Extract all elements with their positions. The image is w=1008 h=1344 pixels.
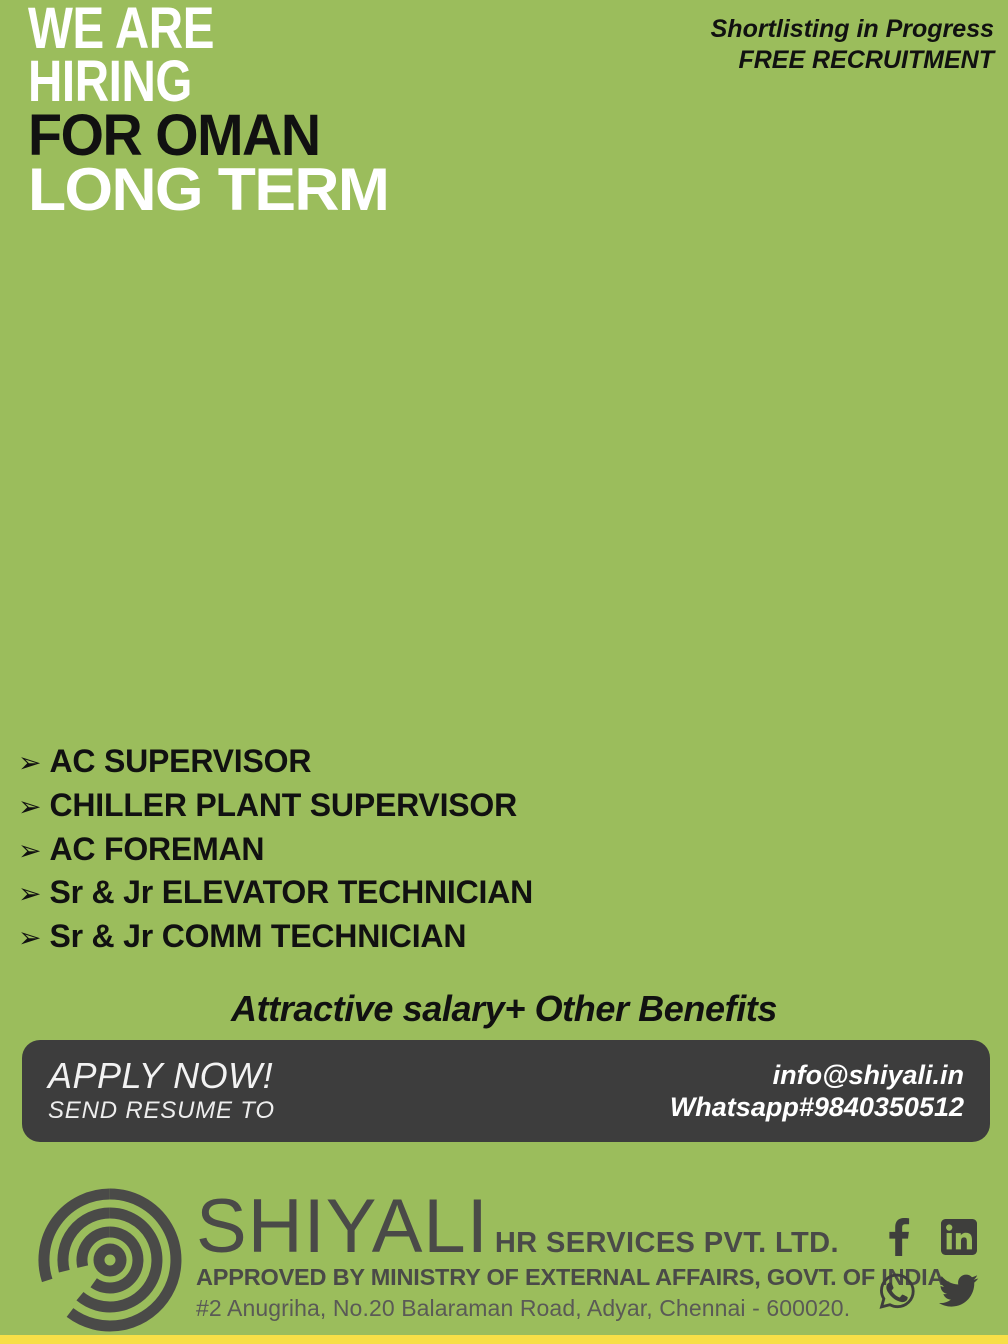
arrow-bullet-icon: ➢	[18, 749, 41, 777]
job-list: ➢ AC SUPERVISOR ➢ CHILLER PLANT SUPERVIS…	[18, 744, 918, 963]
company-suffix: HR SERVICES PVT. LTD.	[495, 1229, 839, 1258]
contact-email[interactable]: info@shiyali.in	[773, 1059, 964, 1091]
send-resume-label: SEND RESUME TO	[48, 1097, 275, 1126]
arrow-bullet-icon: ➢	[18, 924, 41, 952]
job-title: Sr & Jr ELEVATOR TECHNICIAN	[49, 875, 533, 911]
job-title: Sr & Jr COMM TECHNICIAN	[49, 919, 466, 955]
headline-line-for-oman: FOR OMAN	[28, 109, 623, 162]
list-item: ➢ AC FOREMAN	[18, 832, 918, 868]
headline-line-hiring: HIRING	[28, 55, 536, 108]
salary-benefits-note: Attractive salary+ Other Benefits	[0, 988, 1008, 1030]
apply-now-bar: APPLY NOW! SEND RESUME TO info@shiyali.i…	[22, 1040, 990, 1142]
company-approval: APPROVED BY MINISTRY OF EXTERNAL AFFAIRS…	[196, 1264, 876, 1291]
list-item: ➢ Sr & Jr COMM TECHNICIAN	[18, 919, 918, 955]
note-shortlisting: Shortlisting in Progress	[711, 14, 994, 45]
bottom-accent-strip	[0, 1335, 1008, 1344]
brand-row: SHIYALI HR SERVICES PVT. LTD.	[196, 1192, 876, 1262]
headline-line-we-are: WE ARE	[28, 2, 536, 55]
footer: SHIYALI HR SERVICES PVT. LTD. APPROVED B…	[0, 1178, 1008, 1344]
arrow-bullet-icon: ➢	[18, 880, 41, 908]
job-title: AC SUPERVISOR	[49, 744, 311, 780]
arrow-bullet-icon: ➢	[18, 837, 41, 865]
whatsapp-icon[interactable]	[874, 1268, 920, 1314]
arrow-bullet-icon: ➢	[18, 793, 41, 821]
headline-line-long-term: LONG TERM	[28, 162, 673, 217]
company-name: SHIYALI	[196, 1192, 489, 1262]
list-item: ➢ AC SUPERVISOR	[18, 744, 918, 780]
facebook-icon[interactable]	[874, 1214, 920, 1260]
apply-now-label: APPLY NOW!	[48, 1056, 275, 1096]
job-title: CHILLER PLANT SUPERVISOR	[49, 788, 517, 824]
top-right-notes: Shortlisting in Progress FREE RECRUITMEN…	[711, 14, 994, 75]
apply-instructions: APPLY NOW! SEND RESUME TO	[48, 1056, 275, 1125]
company-info: SHIYALI HR SERVICES PVT. LTD. APPROVED B…	[196, 1192, 876, 1322]
headline-block: WE ARE HIRING FOR OMAN LONG TERM	[28, 2, 648, 217]
social-links	[874, 1214, 990, 1314]
contact-details: info@shiyali.in Whatsapp#9840350512	[670, 1059, 964, 1124]
shiyali-logo-icon	[34, 1184, 186, 1336]
list-item: ➢ CHILLER PLANT SUPERVISOR	[18, 788, 918, 824]
company-address: #2 Anugriha, No.20 Balaraman Road, Adyar…	[196, 1295, 876, 1322]
linkedin-icon[interactable]	[936, 1214, 982, 1260]
recruitment-poster: WE ARE HIRING FOR OMAN LONG TERM Shortli…	[0, 0, 1008, 1344]
note-free-recruitment: FREE RECRUITMENT	[711, 45, 994, 76]
job-title: AC FOREMAN	[49, 832, 264, 868]
contact-whatsapp[interactable]: Whatsapp#9840350512	[670, 1091, 964, 1123]
twitter-icon[interactable]	[936, 1268, 982, 1314]
list-item: ➢ Sr & Jr ELEVATOR TECHNICIAN	[18, 875, 918, 911]
